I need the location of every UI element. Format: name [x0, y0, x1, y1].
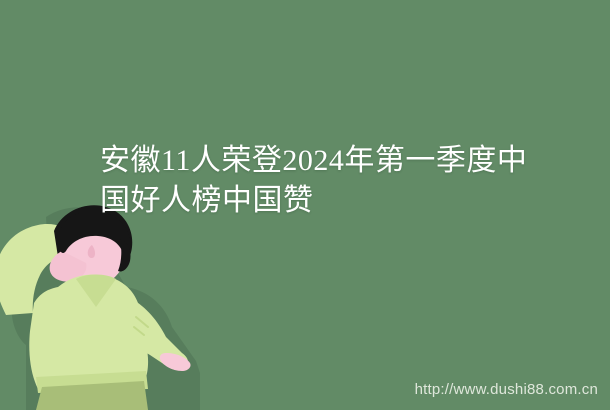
person-hand-behind-head-illustration	[0, 195, 200, 410]
watermark-url: http://www.dushi88.com.cn	[415, 381, 598, 398]
page-title: 安徽11人荣登2024年第一季度中国好人榜中国赞	[100, 141, 530, 221]
poster-canvas: 安徽11人荣登2024年第一季度中国好人榜中国赞 http://www.dush…	[0, 0, 610, 410]
